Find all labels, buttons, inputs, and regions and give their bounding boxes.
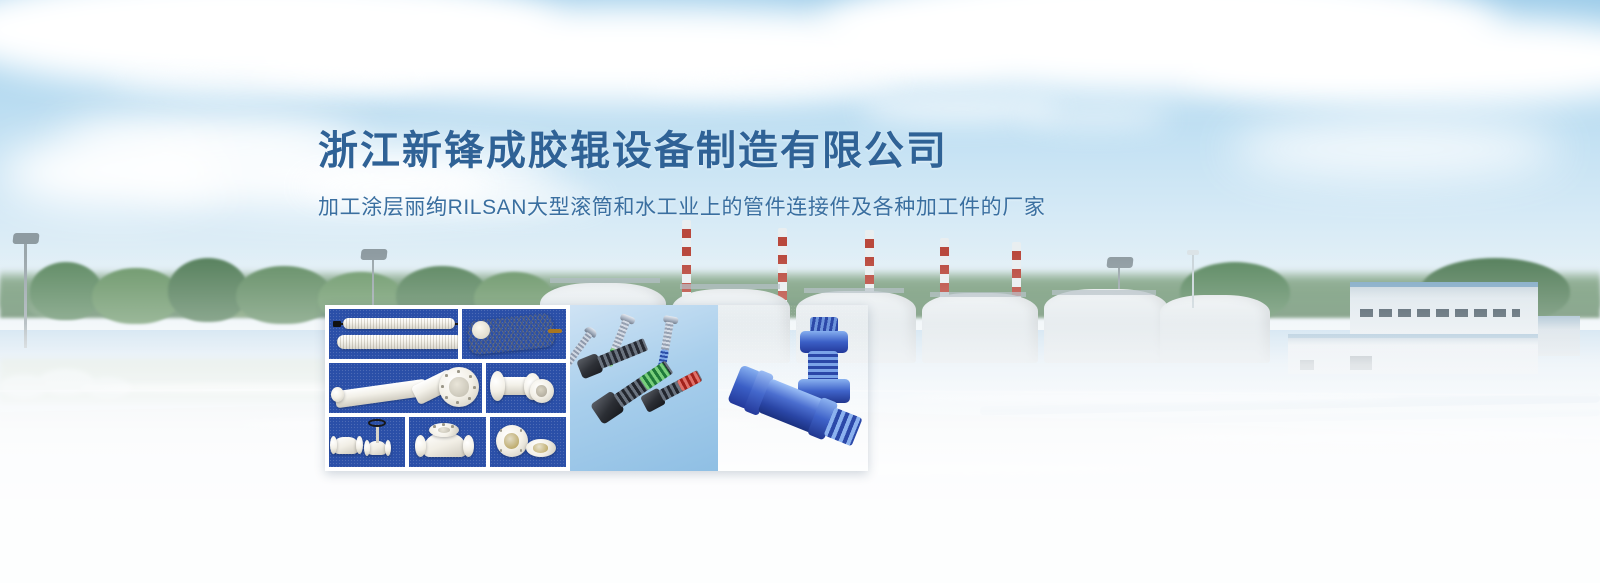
flange [439, 367, 479, 407]
photo-flange-fittings [486, 363, 566, 413]
tree-cluster-left [92, 268, 180, 324]
valve-handwheel [368, 419, 386, 427]
hero-banner: 浙江新锋成胶辊设备制造有限公司 加工涂层丽绚RILSAN大型滚筒和水工业上的管件… [0, 0, 1600, 583]
panel-rubber-rollers-and-fittings[interactable] [325, 305, 570, 471]
photo-rubber-roller-pair [329, 309, 458, 359]
photo-coated-flanged-pipe [329, 363, 482, 413]
page-subtitle: 加工涂层丽绚RILSAN大型滚筒和水工业上的管件连接件及各种加工件的厂家 [318, 194, 1138, 221]
photo-strainer-and-gate-valve [329, 417, 405, 467]
photo-check-valve [409, 417, 485, 467]
product-photo-collage[interactable] [325, 305, 868, 471]
photo-mesh-cylinder-roller [462, 309, 566, 359]
panel-blue-coated-bolts[interactable] [718, 305, 868, 471]
photo-flange-gasket-set [490, 417, 566, 467]
street-lamp [1192, 254, 1194, 308]
page-title: 浙江新锋成胶辊设备制造有限公司 [318, 128, 1138, 174]
panel-coated-bolts-assorted[interactable] [570, 305, 718, 471]
tree-cluster-left [30, 262, 102, 320]
hero-headline: 浙江新锋成胶辊设备制造有限公司 加工涂层丽绚RILSAN大型滚筒和水工业上的管件… [318, 128, 1138, 221]
